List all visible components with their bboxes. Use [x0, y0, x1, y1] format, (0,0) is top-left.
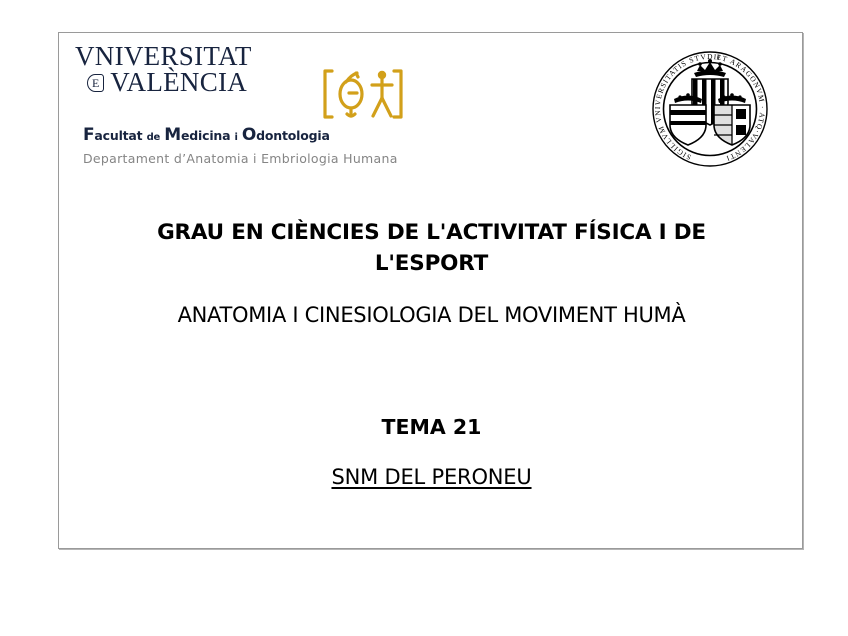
degree-title: GRAU EN CIÈNCIES DE L'ACTIVITAT FÍSICA I…	[121, 217, 742, 279]
university-name-line-1: VNIVERSITAT	[75, 42, 252, 70]
faculty-line: Facultat de Medicina i Odontologia	[83, 128, 330, 143]
brand-header: VNIVERSITAT E VALÈNCIA	[69, 44, 794, 179]
slide-frame: VNIVERSITAT E VALÈNCIA	[58, 32, 803, 549]
faculty-initial-o: O	[242, 125, 256, 145]
university-wordmark: VNIVERSITAT E VALÈNCIA	[75, 44, 495, 106]
topic-name: SNM DEL PERONEU	[91, 463, 772, 491]
faculty-word-odontologia: dontologia	[256, 128, 330, 143]
faculty-initial-m: M	[164, 125, 181, 145]
faculty-connector-de: de	[147, 132, 161, 143]
university-name-line-2-text: VALÈNCIA	[110, 67, 247, 97]
faculty-connector-i: i	[235, 132, 238, 143]
university-logo: VNIVERSITAT E VALÈNCIA	[75, 44, 495, 106]
faculty-word-medicina: edicina	[181, 128, 230, 143]
uv-bracket-figures-symbol	[320, 68, 406, 120]
universitat-de-valencia-seal: ET ARAGONVM · ATQ·VALENTI SIGILLVM VNIVE…	[648, 47, 772, 171]
faculty-word-facultat: acultat	[94, 128, 142, 143]
topic-number: TEMA 21	[91, 414, 772, 440]
university-name-line-2: E VALÈNCIA	[87, 68, 247, 96]
topic-name-text: SNM DEL PERONEU	[331, 465, 531, 489]
department-line: Departament d’Anatomia i Embriologia Hum…	[83, 151, 398, 166]
de-ligature-glyph: E	[87, 74, 104, 92]
subject-title: ANATOMIA I CINESIOLOGIA DEL MOVIMENT HUM…	[91, 301, 772, 329]
faculty-initial-f: F	[83, 125, 94, 145]
